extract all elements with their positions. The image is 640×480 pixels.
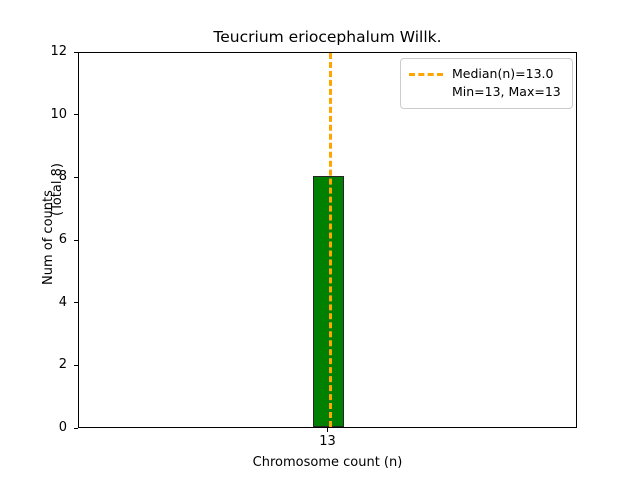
y-tick-label: 8 xyxy=(59,170,67,183)
y-axis-label-main: Num of counts xyxy=(42,190,55,285)
y-tick-label: 12 xyxy=(50,45,67,58)
figure-canvas: Teucrium eriocephalum Willk. 121086420 N… xyxy=(0,0,640,480)
y-tick-label: 10 xyxy=(50,108,67,121)
x-axis-label: Chromosome count (n) xyxy=(78,456,577,470)
blank-sample-icon xyxy=(409,91,443,94)
legend-entry-median: Median(n)=13.0 xyxy=(409,65,564,83)
legend-label-median: Median(n)=13.0 xyxy=(452,66,553,82)
chart-title: Teucrium eriocephalum Willk. xyxy=(78,28,577,47)
x-tick-label: 13 xyxy=(319,435,336,448)
legend-label-minmax: Min=13, Max=13 xyxy=(452,84,561,100)
median-line xyxy=(329,53,332,427)
legend: Median(n)=13.0 Min=13, Max=13 xyxy=(400,58,573,109)
y-tick-label: 4 xyxy=(59,296,67,309)
dashed-line-icon xyxy=(409,73,443,76)
legend-entry-minmax: Min=13, Max=13 xyxy=(409,83,564,101)
x-tick-mark xyxy=(327,428,328,432)
y-tick-label: 2 xyxy=(59,358,67,371)
y-tick-label: 0 xyxy=(59,421,67,434)
y-tick-label: 6 xyxy=(59,233,67,246)
